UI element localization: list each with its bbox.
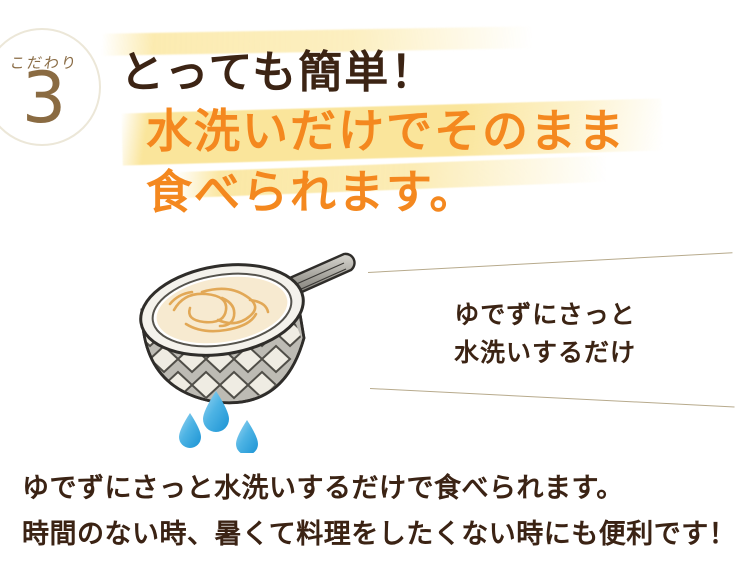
kodawari-badge: こだわり 3 — [0, 28, 101, 146]
footer-description: ゆでずにさっと水洗いするだけで食べられます。 時間のない時、暑くて料理をしたくな… — [22, 466, 742, 558]
headline-line-3: 食べられます。 — [146, 162, 720, 222]
caption-block: ゆでずにさっと 水洗いするだけ — [380, 296, 710, 372]
footer-line-1: ゆでずにさっと水洗いするだけで食べられます。 — [22, 466, 742, 512]
headline-line-1: とっても簡単！ — [120, 46, 720, 100]
water-drop-2 — [179, 413, 201, 448]
footer-line-2: 時間のない時、暑くて料理をしたくない時にも便利です！ — [22, 512, 742, 558]
headline-block: とっても簡単！ 水洗いだけでそのまま 食べられます。 — [120, 46, 720, 222]
headline-line-2: 水洗いだけでそのまま — [146, 100, 720, 162]
water-drop-3 — [236, 420, 258, 453]
caption-line-2: 水洗いするだけ — [380, 334, 710, 372]
caption-divider-bottom — [370, 388, 735, 407]
caption-divider-top — [368, 252, 733, 273]
headline-line-2-text: 水洗いだけでそのまま — [146, 104, 626, 158]
headline-line-1-text: とっても簡単！ — [120, 47, 436, 98]
strainer-icon — [130, 248, 370, 453]
badge-number: 3 — [0, 63, 103, 133]
caption-line-1: ゆでずにさっと — [380, 296, 710, 334]
headline-line-3-text: 食べられます。 — [146, 165, 477, 219]
strainer-illustration — [130, 248, 370, 453]
